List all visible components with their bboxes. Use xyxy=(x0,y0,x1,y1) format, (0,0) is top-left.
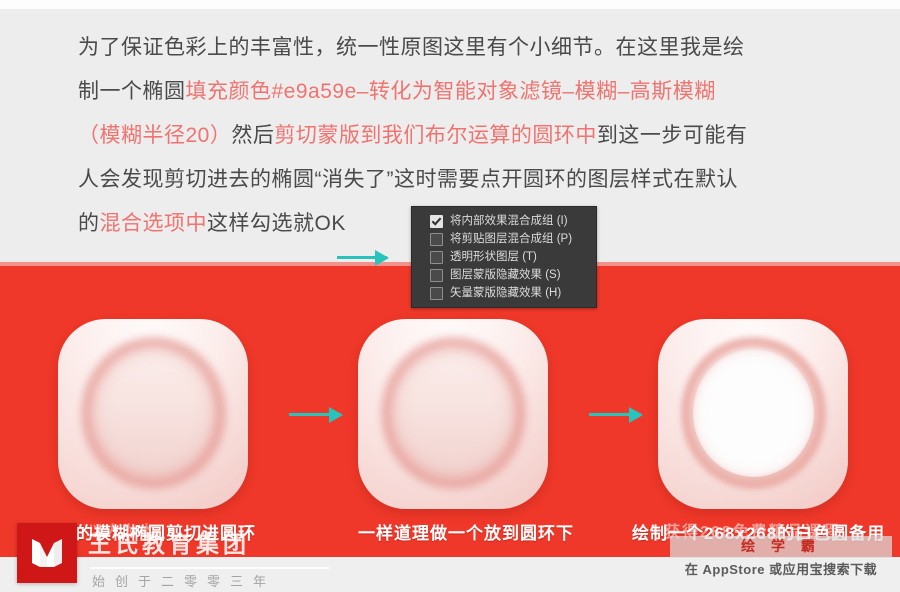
blend-option-row[interactable]: 透明形状图层 (T) xyxy=(412,248,596,266)
checkbox-icon[interactable] xyxy=(430,287,443,300)
tutorial-line-1: 为了保证色彩上的丰富性，统一性原图这里有个小细节。在这里我是绘 xyxy=(78,26,838,70)
blurred-ring xyxy=(381,337,526,489)
brand-rule xyxy=(90,567,330,569)
caption-step-2: 一样道理做一个放到圆环下 xyxy=(358,519,574,544)
watermark-left: 王氏教育集团 始创于二零零三年 xyxy=(8,517,358,592)
blend-option-row[interactable]: 将剪贴图层混合成组 (P) xyxy=(412,230,596,248)
blend-option-label: 矢量蒙版隐藏效果 (H) xyxy=(450,287,561,300)
squircle-shape xyxy=(358,319,548,509)
blend-option-label: 将剪贴图层混合成组 (P) xyxy=(450,233,572,246)
top-white-strip xyxy=(0,0,900,9)
tutorial-seg: 的 xyxy=(78,212,100,235)
screenshot-root: 为了保证色彩上的丰富性，统一性原图这里有个小细节。在这里我是绘 制一个椭圆填充颜… xyxy=(0,0,900,592)
blending-options-popup[interactable]: 将内部效果混合成组 (I) 将剪贴图层混合成组 (P) 透明形状图层 (T) 图… xyxy=(411,206,597,308)
arrow-right-icon-to-popup xyxy=(337,256,387,259)
checkbox-icon[interactable] xyxy=(430,251,443,264)
blend-option-row[interactable]: 矢量蒙版隐藏效果 (H) xyxy=(412,284,596,302)
tutorial-seg: 制一个椭圆 xyxy=(78,80,186,103)
app-download-hint: 在 AppStore 或应用宝搜索下载 xyxy=(662,559,900,578)
brand-founded-year: 始创于二零零三年 xyxy=(92,571,276,590)
brand-name: 王氏教育集团 xyxy=(88,525,250,559)
icon-step-2 xyxy=(358,319,548,509)
icon-step-1 xyxy=(58,319,248,509)
tutorial-seg-highlight: 混合选项中 xyxy=(100,212,208,235)
tutorial-line-2: 制一个椭圆填充颜色#e9a59e–转化为智能对象滤镜–模糊–高斯模糊 xyxy=(78,70,838,114)
tutorial-seg: 人会发现剪切进去的椭圆“消失了”这时需要点开圆环的图层样式在默认 xyxy=(78,168,738,191)
blend-option-label: 图层蒙版隐藏效果 (S) xyxy=(450,269,561,282)
tutorial-seg: 然后 xyxy=(231,124,274,147)
w-logo-glyph xyxy=(27,533,67,573)
arrow-right-icon-1 xyxy=(289,413,341,416)
watermark-right: 绘 学 霸 在 AppStore 或应用宝搜索下载 xyxy=(662,532,900,592)
arrow-right-icon-2 xyxy=(589,413,641,416)
blurred-ring xyxy=(81,337,226,489)
tutorial-seg: 为了保证色彩上的丰富性，统一性原图这里有个小细节。在这里我是绘 xyxy=(78,36,745,59)
checkbox-icon[interactable] xyxy=(430,233,443,246)
tutorial-line-3: （模糊半径20）然后剪切蒙版到我们布尔运算的圆环中到这一步可能有 xyxy=(78,114,838,158)
blend-option-row[interactable]: 图层蒙版隐藏效果 (S) xyxy=(412,266,596,284)
icon-step-3 xyxy=(658,319,848,509)
icon-stage xyxy=(0,266,900,557)
checkbox-checked-icon[interactable] xyxy=(430,215,443,228)
tutorial-seg: 这样勾选就OK xyxy=(207,212,346,235)
tutorial-seg: 到这一步可能有 xyxy=(597,124,748,147)
blend-option-label: 透明形状图层 (T) xyxy=(450,251,537,264)
blurred-ring xyxy=(681,337,826,489)
tutorial-line-4: 人会发现剪切进去的椭圆“消失了”这时需要点开圆环的图层样式在默认 xyxy=(78,158,838,202)
tutorial-seg-highlight: 剪切蒙版到我们布尔运算的圆环中 xyxy=(274,124,597,147)
brand-logo-icon xyxy=(17,523,77,583)
blend-option-row[interactable]: 将内部效果混合成组 (I) xyxy=(412,212,596,230)
tutorial-seg-highlight: （模糊半径20） xyxy=(78,124,231,147)
checkbox-icon[interactable] xyxy=(430,269,443,282)
squircle-shape xyxy=(58,319,248,509)
blend-option-label: 将内部效果混合成组 (I) xyxy=(450,215,568,228)
app-name: 绘 学 霸 xyxy=(662,536,900,556)
squircle-shape xyxy=(658,319,848,509)
tutorial-seg-highlight: 填充颜色#e9a59e–转化为智能对象滤镜–模糊–高斯模糊 xyxy=(186,80,716,103)
